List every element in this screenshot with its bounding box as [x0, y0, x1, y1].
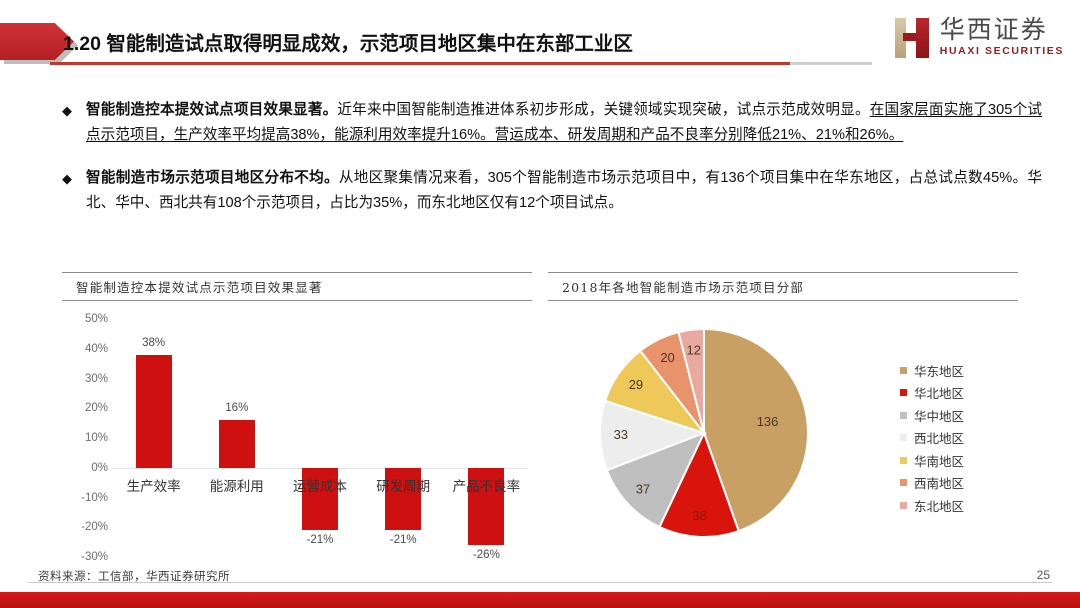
bar-chart-y-tick: -30% — [62, 551, 108, 563]
pie-value-label: 29 — [629, 377, 643, 392]
pie-value-label: 33 — [614, 427, 628, 442]
pie-value-label: 38 — [692, 508, 706, 523]
logo-name-en: HUAXI SECURITIES — [940, 45, 1064, 57]
bar-chart-y-axis: 50%40%30%20%10%0%-10%-20%-30% — [62, 301, 108, 569]
pie-chart-legend: 华东地区华北地区华中地区西北地区华南地区西南地区东北地区 — [900, 359, 964, 517]
bar-chart-value-label: 38% — [119, 337, 189, 349]
pie-value-label: 136 — [757, 414, 779, 429]
bar-chart-category-label: 产品不良率 — [440, 475, 532, 495]
bar-chart-y-tick: -10% — [62, 492, 108, 504]
bar-chart-title: 智能制造控本提效试点示范项目效果显著 — [62, 272, 532, 301]
legend-swatch-icon — [900, 434, 907, 441]
bar-chart-panel: 智能制造控本提效试点示范项目效果显著 50%40%30%20%10%0%-10%… — [62, 272, 532, 569]
legend-label: 华南地区 — [914, 451, 964, 470]
pie-legend-item[interactable]: 西南地区 — [900, 472, 964, 495]
bar-chart-bar — [136, 355, 172, 468]
page-number: 25 — [1037, 568, 1050, 582]
page-title: 1.20 智能制造试点取得明显成效，示范项目地区集中在东部工业区 — [63, 27, 633, 56]
bullet-item: ◆ 智能制造市场示范项目地区分布不均。从地区聚集情况来看，305个智能制造市场示… — [62, 166, 1042, 216]
bar-chart-y-tick: 40% — [62, 343, 108, 355]
bar-chart-y-tick: 30% — [62, 373, 108, 385]
bar-chart-category-label: 生产效率 — [108, 475, 200, 495]
slide-header: 1.20 智能制造试点取得明显成效，示范项目地区集中在东部工业区 华西证券 HU… — [0, 0, 1080, 78]
pie-legend-item[interactable]: 华南地区 — [900, 449, 964, 472]
legend-label: 华东地区 — [914, 361, 964, 380]
bar-chart-y-tick: 20% — [62, 402, 108, 414]
source-note: 资料来源：工信部，华西证券研究所 — [38, 568, 230, 584]
pie-chart-svg: 136383733292012 — [576, 315, 876, 555]
bullet-lead: 智能制造控本提效试点项目效果显著。 — [86, 102, 337, 118]
bullet-item: ◆ 智能制造控本提效试点项目效果显著。近年来中国智能制造推进体系初步形成，关键领… — [62, 98, 1042, 148]
bar-chart-category-label: 运营成本 — [274, 475, 366, 495]
logo-name-cn: 华西证券 — [940, 17, 1064, 43]
legend-label: 华北地区 — [914, 383, 964, 402]
legend-label: 华中地区 — [914, 406, 964, 425]
bar-chart-category-label: 研发周期 — [357, 475, 449, 495]
bullet-diamond-icon: ◆ — [62, 166, 72, 216]
pie-value-label: 37 — [636, 482, 650, 497]
legend-swatch-icon — [900, 412, 907, 419]
bar-chart-bar — [219, 420, 255, 468]
footer-bar — [0, 592, 1080, 608]
bullet-plain: 近年来中国智能制造推进体系初步形成，关键领域实现突破，试点示范成效明显。 — [337, 102, 869, 118]
bullet-lead: 智能制造市场示范项目地区分布不均。 — [86, 170, 339, 186]
legend-label: 东北地区 — [914, 496, 964, 515]
pie-value-label: 12 — [687, 342, 701, 357]
bar-chart-y-tick: -20% — [62, 521, 108, 533]
legend-swatch-icon — [900, 479, 907, 486]
bar-chart-value-label: -21% — [368, 534, 438, 546]
huaxi-h-mark-icon — [894, 16, 934, 58]
bullet-diamond-icon: ◆ — [62, 98, 72, 148]
pie-legend-item[interactable]: 华东地区 — [900, 359, 964, 382]
legend-swatch-icon — [900, 367, 907, 374]
legend-label: 西北地区 — [914, 428, 964, 447]
legend-label: 西南地区 — [914, 473, 964, 492]
header-rule-red — [50, 62, 790, 65]
bullet-text: 智能制造控本提效试点项目效果显著。近年来中国智能制造推进体系初步形成，关键领域实… — [86, 98, 1042, 148]
company-logo: 华西证券 HUAXI SECURITIES — [894, 14, 1064, 60]
body-bullets: ◆ 智能制造控本提效试点项目效果显著。近年来中国智能制造推进体系初步形成，关键领… — [62, 98, 1042, 234]
bar-chart-value-label: -21% — [285, 534, 355, 546]
legend-swatch-icon — [900, 502, 907, 509]
bullet-text: 智能制造市场示范项目地区分布不均。从地区聚集情况来看，305个智能制造市场示范项… — [86, 166, 1042, 216]
bar-chart-plot-area: 38%生产效率16%能源利用-21%运营成本-21%研发周期-26%产品不良率 — [112, 301, 528, 569]
pie-legend-item[interactable]: 西北地区 — [900, 427, 964, 450]
pie-legend-item[interactable]: 华北地区 — [900, 382, 964, 405]
bar-chart: 50%40%30%20%10%0%-10%-20%-30% 38%生产效率16%… — [62, 301, 532, 569]
pie-value-label: 20 — [660, 350, 674, 365]
header-rule-gray — [790, 62, 872, 65]
bar-chart-value-label: 16% — [202, 402, 272, 414]
pie-chart-panel: 2018年各地智能制造市场示范项目分部 136383733292012 华东地区… — [548, 272, 1018, 569]
legend-swatch-icon — [900, 457, 907, 464]
bar-chart-y-tick: 10% — [62, 432, 108, 444]
bar-chart-y-tick: 0% — [62, 462, 108, 474]
pie-chart-title: 2018年各地智能制造市场示范项目分部 — [548, 272, 1018, 301]
legend-swatch-icon — [900, 389, 907, 396]
bar-chart-value-label: -26% — [451, 549, 521, 561]
pie-legend-item[interactable]: 东北地区 — [900, 494, 964, 517]
pie-legend-item[interactable]: 华中地区 — [900, 404, 964, 427]
pie-chart: 136383733292012 华东地区华北地区华中地区西北地区华南地区西南地区… — [548, 301, 1018, 569]
bar-chart-y-tick: 50% — [62, 313, 108, 325]
bar-chart-category-label: 能源利用 — [191, 475, 283, 495]
